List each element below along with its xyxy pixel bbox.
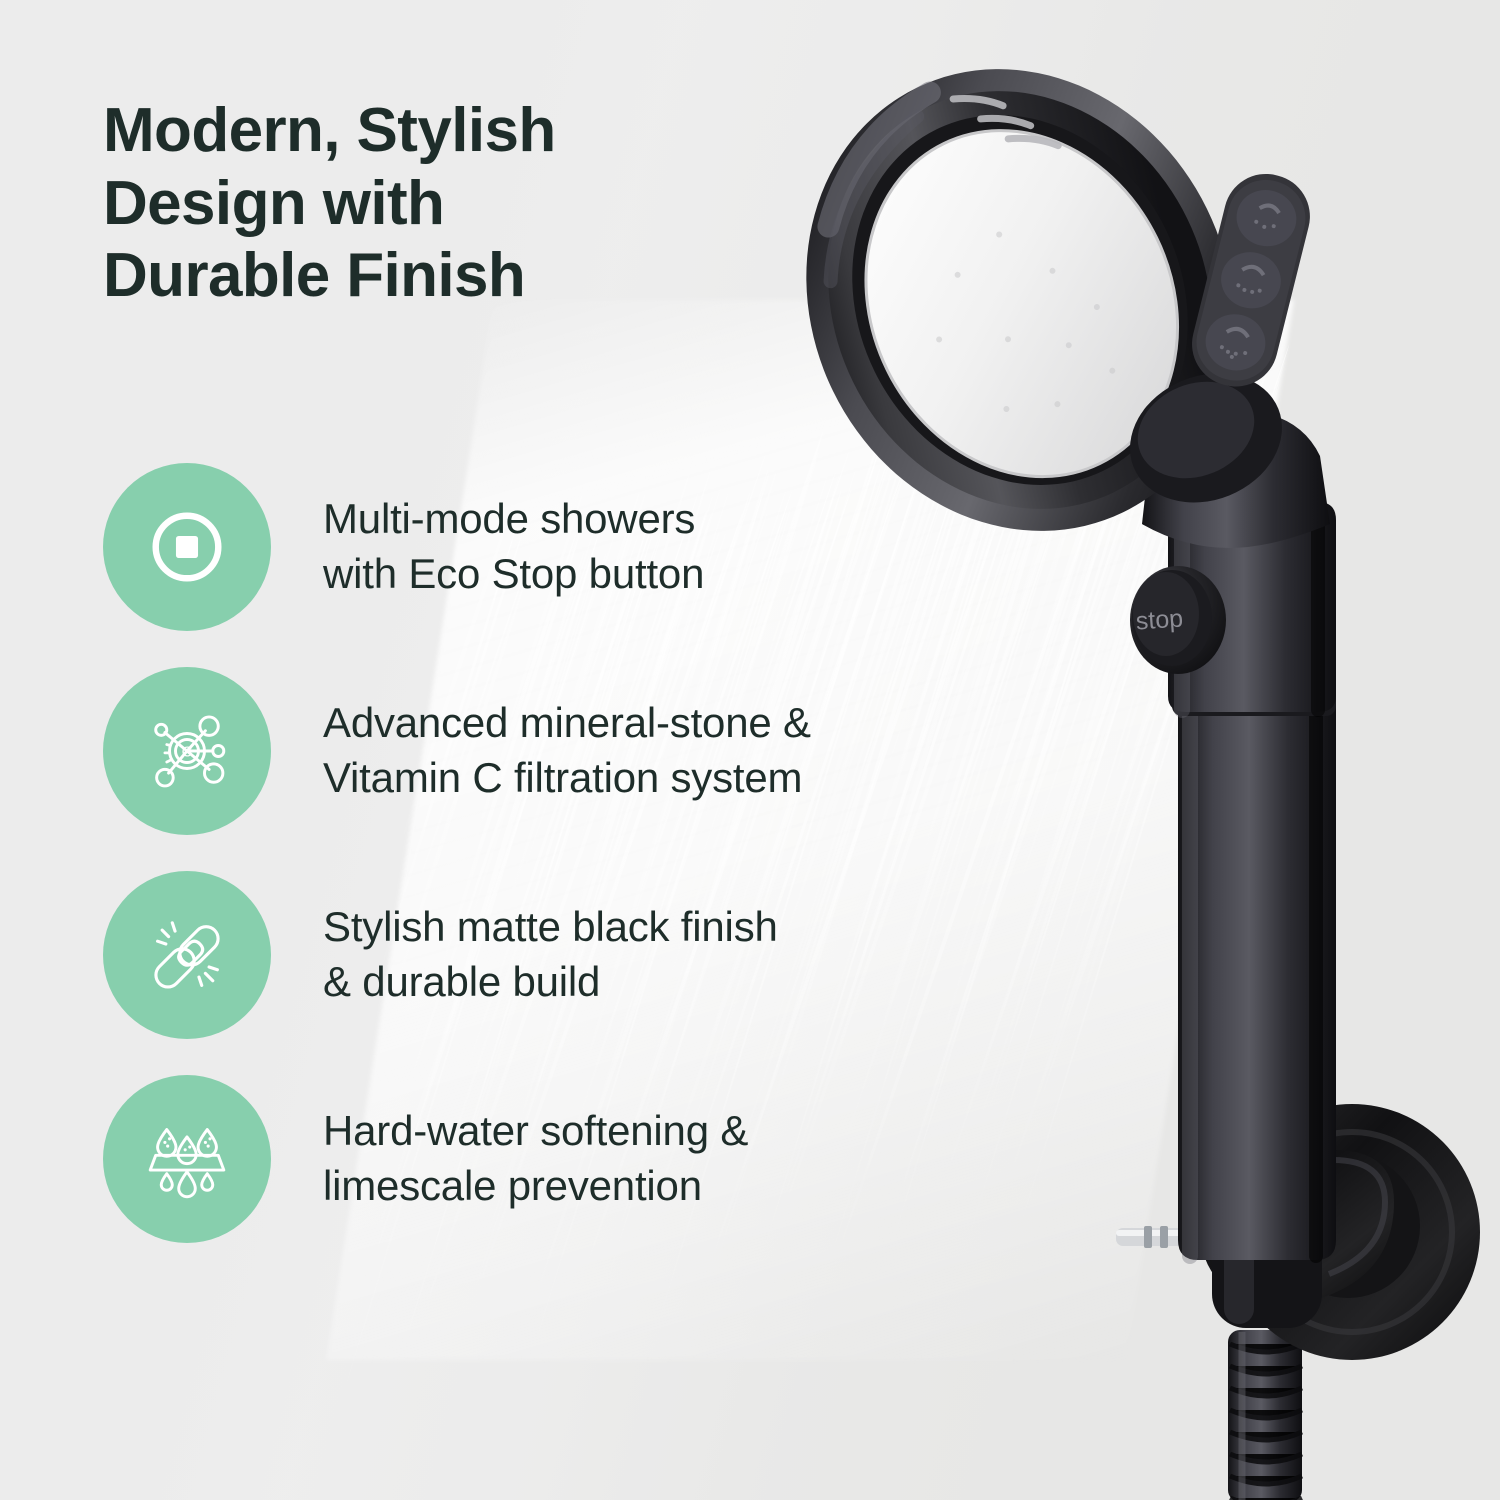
feature-icon-badge [103, 871, 271, 1039]
feature-label: Stylish matte black finish & durable bui… [323, 900, 778, 1009]
list-item: Multi-mode showers with Eco Stop button [103, 463, 1040, 631]
content-column: Modern, Stylish Design with Durable Fini… [0, 0, 1040, 1500]
list-item: Hard-water softening & limescale prevent… [103, 1075, 1040, 1243]
list-item: C Advanced mineral-stone & Vitamin C fil… [103, 667, 1040, 835]
svg-text:C: C [182, 744, 193, 760]
feature-label: Multi-mode showers with Eco Stop button [323, 492, 704, 601]
feature-icon-badge [103, 1075, 271, 1243]
list-item: Stylish matte black finish & durable bui… [103, 871, 1040, 1039]
feature-icon-badge [103, 463, 271, 631]
feature-label: Hard-water softening & limescale prevent… [323, 1104, 748, 1213]
vitamin-c-molecule-icon: C [141, 705, 233, 797]
feature-list: Multi-mode showers with Eco Stop button [103, 463, 1040, 1243]
infographic-canvas: stop [0, 0, 1500, 1500]
feature-label: Advanced mineral-stone & Vitamin C filtr… [323, 696, 811, 805]
chain-link-icon [141, 909, 233, 1001]
page-title: Modern, Stylish Design with Durable Fini… [103, 95, 743, 313]
water-filter-droplets-icon [141, 1113, 233, 1205]
stop-button-icon [141, 501, 233, 593]
feature-icon-badge: C [103, 667, 271, 835]
